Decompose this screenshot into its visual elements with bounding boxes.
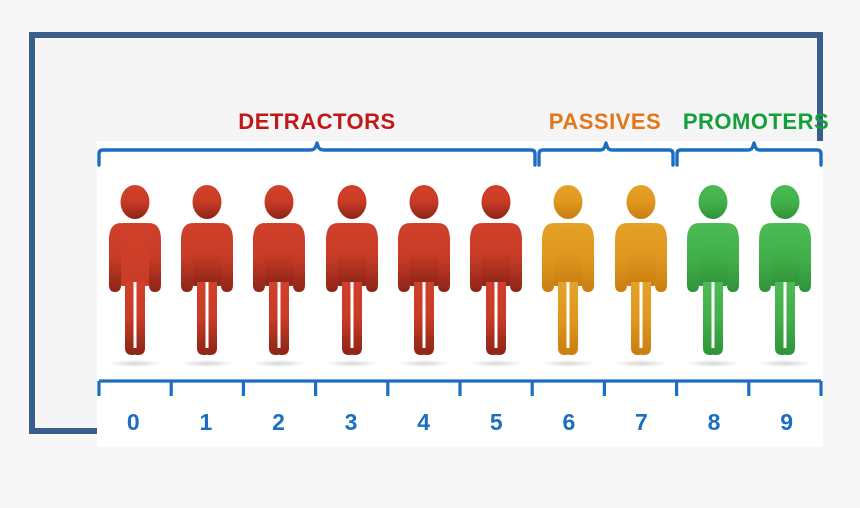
axis-label-6: 6 — [533, 409, 606, 436]
bracket-promoters — [677, 143, 821, 165]
people-figures-row — [97, 174, 823, 364]
diagram-frame: DETRACTORS PASSIVES PROMOTERS — [29, 32, 823, 434]
person-icon — [107, 182, 163, 364]
axis-label-3: 3 — [315, 409, 388, 436]
figure-shadow — [109, 360, 161, 367]
group-label-detractors: DETRACTORS — [238, 109, 395, 135]
person-icon — [757, 182, 813, 364]
axis-label-0: 0 — [97, 409, 170, 436]
axis-label-2: 2 — [242, 409, 315, 436]
group-label-promoters: PROMOTERS — [683, 109, 829, 135]
axis-label-1: 1 — [170, 409, 243, 436]
axis-label-9: 9 — [750, 409, 823, 436]
axis-number-labels: 0 1 2 3 4 5 6 7 8 9 — [97, 404, 823, 440]
person-figure-4 — [396, 182, 452, 364]
figure-shadow — [687, 360, 739, 367]
figure-shadow — [615, 360, 667, 367]
person-icon — [540, 182, 596, 364]
axis-label-4: 4 — [387, 409, 460, 436]
axis-label-8: 8 — [678, 409, 751, 436]
figure-shadow — [398, 360, 450, 367]
person-icon — [613, 182, 669, 364]
person-figure-5 — [468, 182, 524, 364]
person-figure-1 — [179, 182, 235, 364]
person-figure-2 — [251, 182, 307, 364]
bracket-detractors — [99, 143, 535, 165]
figure-shadow — [470, 360, 522, 367]
person-figure-9 — [757, 182, 813, 364]
person-figure-3 — [324, 182, 380, 364]
person-figure-7 — [613, 182, 669, 364]
figure-shadow — [542, 360, 594, 367]
person-figure-0 — [107, 182, 163, 364]
bracket-passives — [539, 143, 673, 165]
group-label-passives: PASSIVES — [549, 109, 661, 135]
person-icon — [396, 182, 452, 364]
axis-label-7: 7 — [605, 409, 678, 436]
person-figure-6 — [540, 182, 596, 364]
group-brackets — [97, 141, 823, 171]
figure-shadow — [181, 360, 233, 367]
person-figure-8 — [685, 182, 741, 364]
score-axis — [97, 378, 823, 404]
person-icon — [685, 182, 741, 364]
figure-shadow — [759, 360, 811, 367]
person-icon — [468, 182, 524, 364]
person-icon — [251, 182, 307, 364]
axis-label-5: 5 — [460, 409, 533, 436]
figure-shadow — [253, 360, 305, 367]
nps-scale-diagram: DETRACTORS PASSIVES PROMOTERS — [0, 0, 860, 470]
person-icon — [324, 182, 380, 364]
person-icon — [179, 182, 235, 364]
figure-shadow — [326, 360, 378, 367]
